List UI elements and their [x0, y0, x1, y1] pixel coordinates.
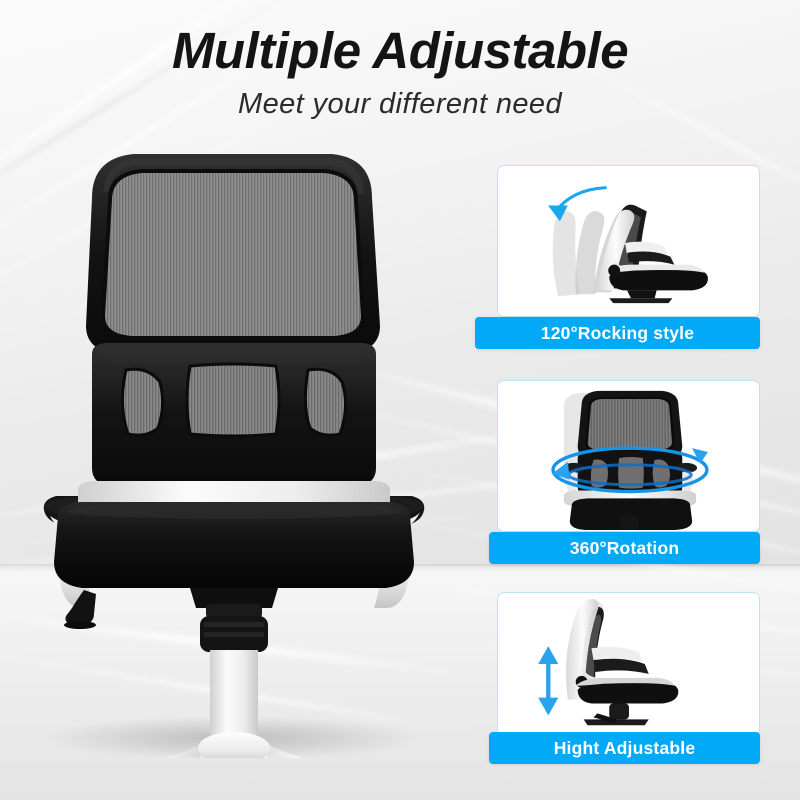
- page-title: Multiple Adjustable: [0, 24, 800, 78]
- rocking-illustration: [498, 166, 759, 316]
- up-down-arrow-icon: [538, 646, 558, 715]
- chair-seat-cushion: [54, 502, 414, 588]
- product-infographic: Multiple Adjustable Meet your different …: [0, 0, 800, 800]
- feature-panel-rocking[interactable]: 120°Rocking style: [497, 165, 760, 317]
- feature-card-rocking: [497, 165, 760, 317]
- feature-card-rotation: [497, 380, 760, 532]
- main-product-image: [14, 138, 454, 758]
- feature-banner-rocking: 120°Rocking style: [475, 317, 760, 349]
- feature-panel-height[interactable]: Hight Adjustable: [497, 592, 760, 744]
- feature-banner-rotation: 360°Rotation: [489, 532, 760, 564]
- feature-label-rocking: 120°Rocking style: [541, 323, 694, 344]
- feature-label-height: Hight Adjustable: [554, 738, 696, 759]
- rotation-illustration: [498, 381, 759, 531]
- feature-banner-height: Hight Adjustable: [489, 732, 760, 764]
- feature-panel-rotation[interactable]: 360°Rotation: [497, 380, 760, 532]
- feature-label-rotation: 360°Rotation: [570, 538, 680, 559]
- height-illustration: [498, 593, 759, 743]
- chair-lumbar-support: [92, 343, 376, 486]
- feature-card-height: [497, 592, 760, 744]
- page-subtitle: Meet your different need: [0, 88, 800, 121]
- chair-backrest: [86, 154, 380, 355]
